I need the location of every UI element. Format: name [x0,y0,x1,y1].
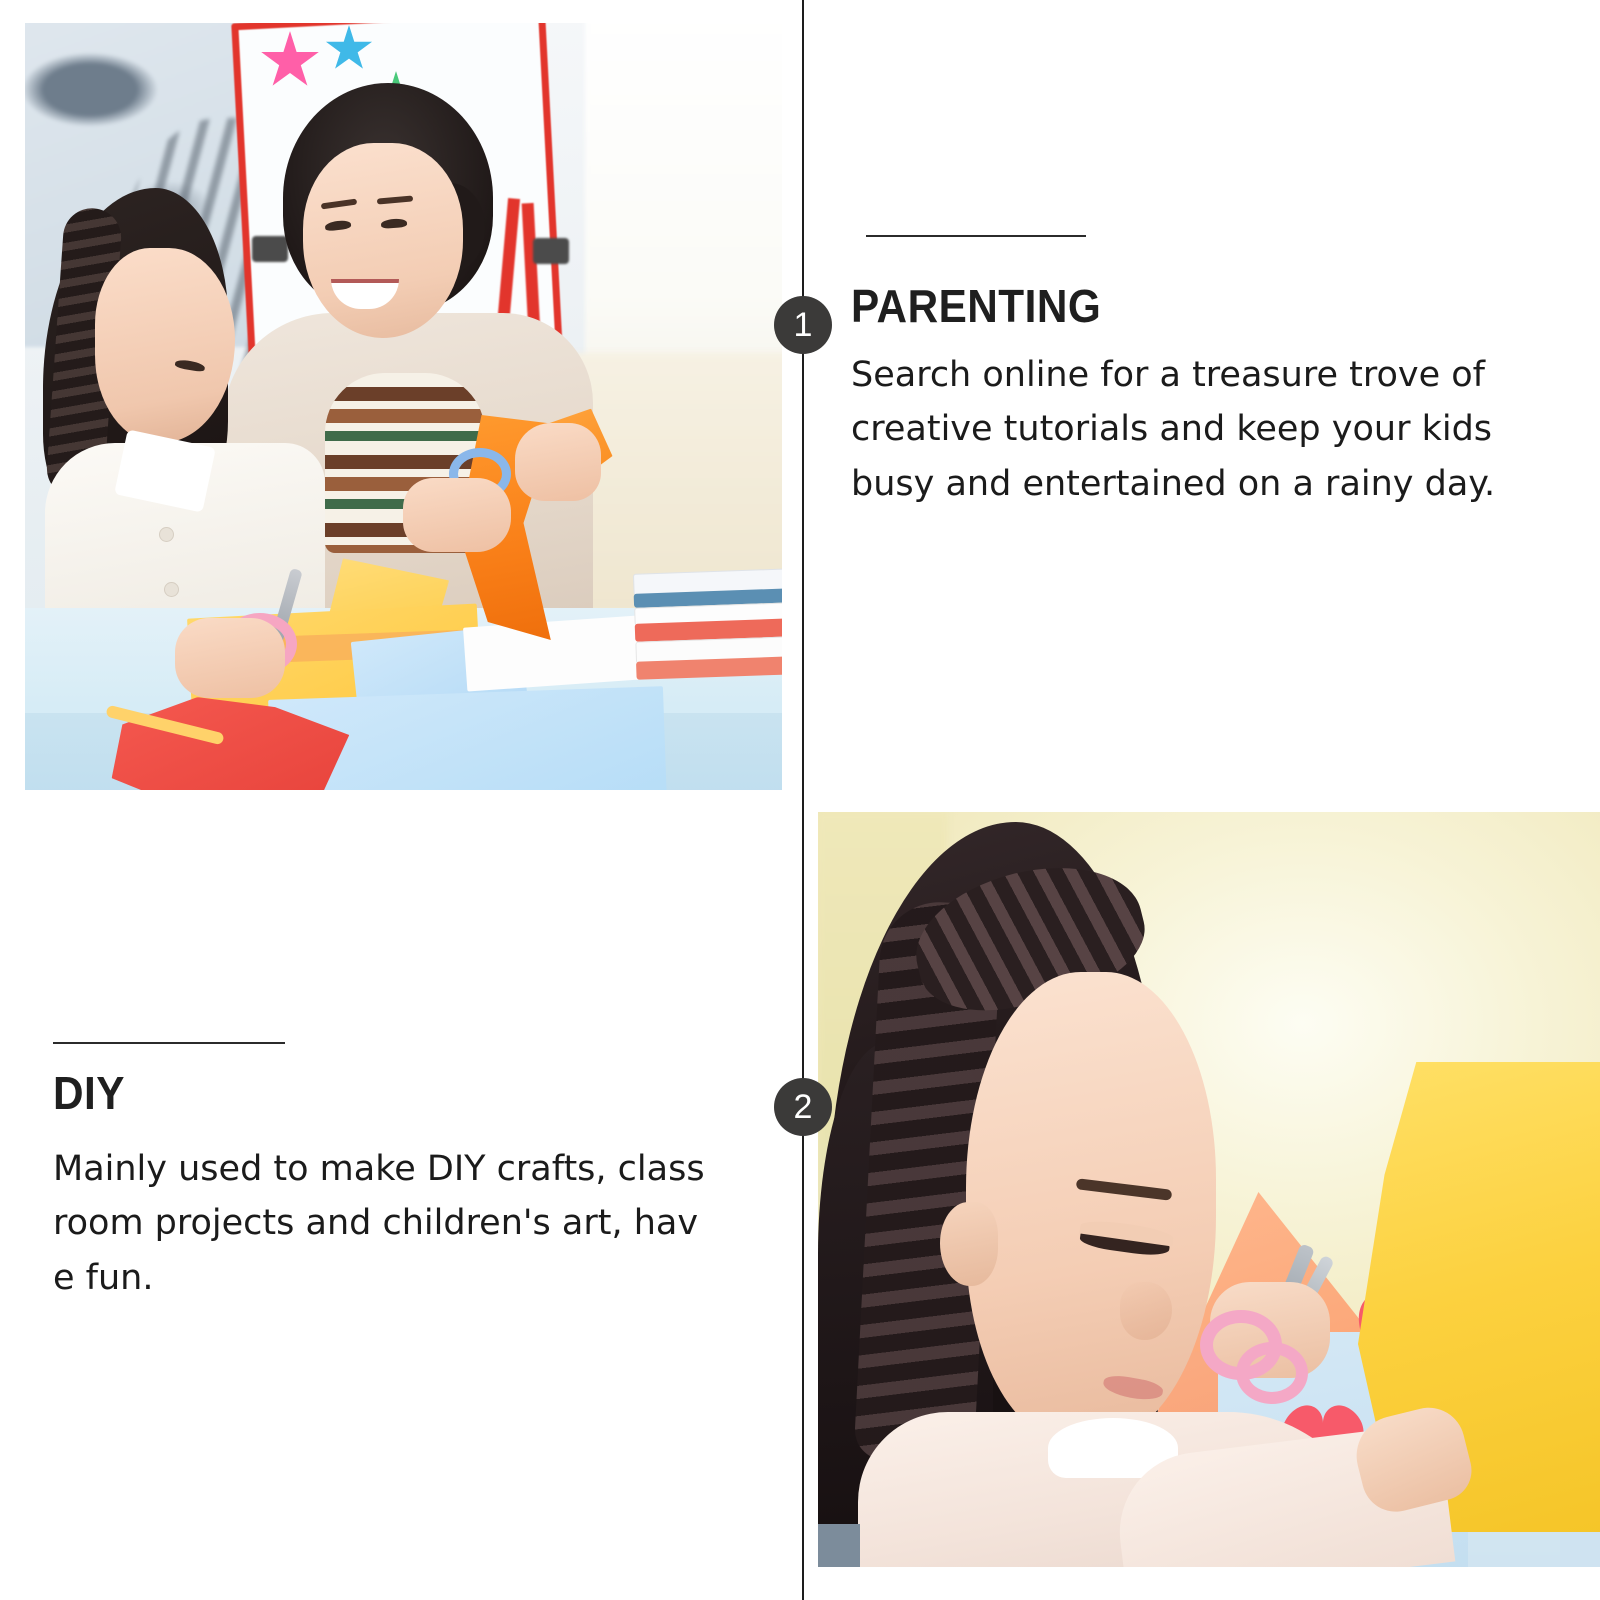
photo1-mother-hand-lower [403,478,511,552]
vertical-divider [802,0,804,1600]
infographic-page: PARENTING Search online for a treasure t… [0,0,1600,1600]
section-2-title: DIY [53,1070,125,1116]
photo1-girl-hand [175,618,285,698]
photo1-girl-button-2 [165,583,178,596]
photo1-paper-white [463,614,657,691]
photo1-easel-clip-left [252,236,288,262]
step-badge-1: 1 [774,296,832,354]
photo-parenting [25,23,782,790]
step-badge-2: 2 [774,1078,832,1136]
photo1-girl-button-1 [160,528,173,541]
photo2-pink-scissors-ring-2 [1236,1342,1308,1404]
photo1-book-stack [633,568,782,694]
photo-parenting-content [25,23,782,790]
photo1-easel-clip-right [533,238,569,264]
photo1-mother-hand-upper [515,423,601,501]
section-2-rule [53,1042,285,1044]
photo2-girl-face [966,972,1216,1442]
photo2-girl-ear [940,1202,998,1286]
photo1-mother-face [303,143,463,338]
section-1-rule [866,235,1086,237]
section-2-body: Mainly used to make DIY crafts, classroo… [53,1142,713,1305]
photo-diy [818,812,1600,1567]
photo2-corner-tab [818,1524,860,1567]
photo-diy-content [818,812,1600,1567]
section-1-body: Search online for a treasure trove of cr… [851,348,1511,511]
section-1-title: PARENTING [851,283,1101,329]
